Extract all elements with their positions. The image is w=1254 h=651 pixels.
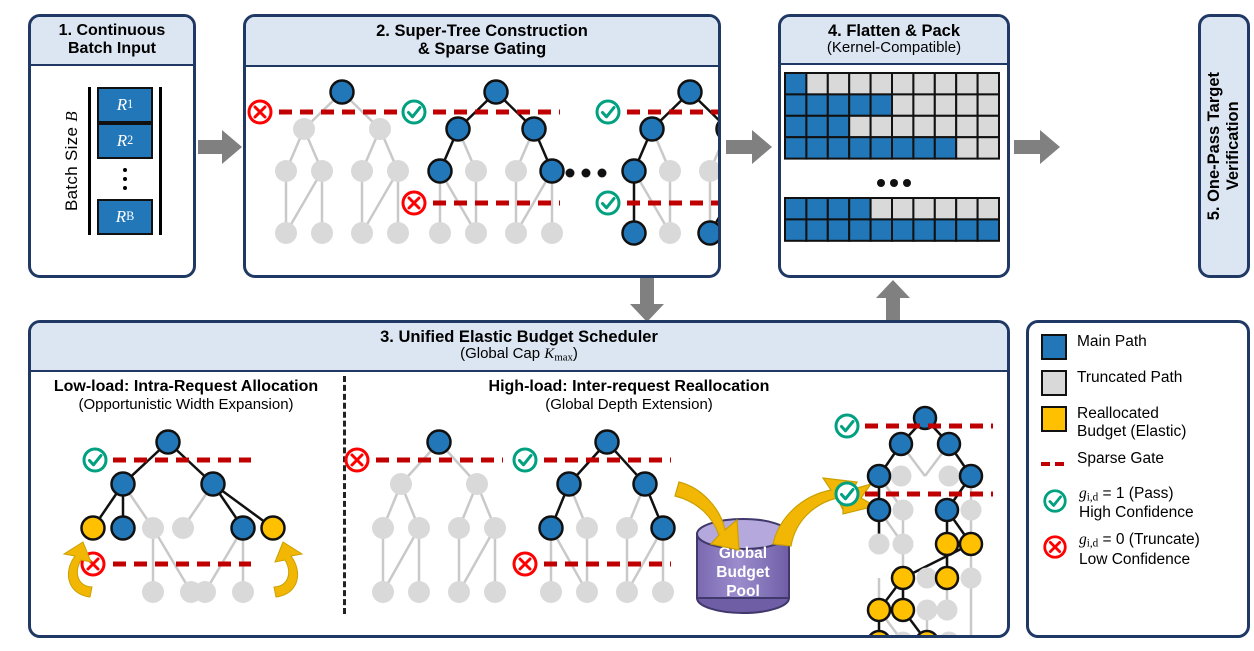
panel-3-header: 3. Unified Elastic Budget Scheduler (Glo… xyxy=(31,323,1007,372)
panel-4-subtitle: (Kernel-Compatible) xyxy=(785,40,1003,57)
pack-cell-main xyxy=(828,95,849,116)
blue-square-swatch xyxy=(1041,334,1067,360)
legend-panel: Main Path Truncated Path Reallocated Bud… xyxy=(1026,320,1250,638)
reallocated-node xyxy=(936,567,958,589)
legend-item: Reallocated Budget (Elastic) xyxy=(1041,405,1239,441)
panel-2-header: 2. Super-Tree Construction & Sparse Gati… xyxy=(246,17,718,67)
pack-cell-truncated xyxy=(892,73,913,94)
lowload-tree xyxy=(64,430,302,603)
arrow-scheduler-to-pack xyxy=(876,280,910,322)
batch-size-label: Batch Size B xyxy=(62,111,82,211)
pack-cell-main xyxy=(785,137,806,158)
green-check-circle-icon xyxy=(836,415,858,437)
panel-supertree-construction: 2. Super-Tree Construction & Sparse Gati… xyxy=(243,14,721,278)
pack-cell-main xyxy=(956,220,977,241)
pool-label-line2: Budget xyxy=(716,564,769,581)
pack-cell-truncated xyxy=(935,73,956,94)
pack-cell-truncated xyxy=(871,73,892,94)
pack-cell-truncated xyxy=(956,95,977,116)
pack-cell-main xyxy=(785,220,806,241)
reallocated-node xyxy=(936,533,958,555)
batch-bracket: R1 R2 RB xyxy=(88,87,162,235)
pack-cell-main xyxy=(785,116,806,137)
legend-label: Reallocated Budget (Elastic) xyxy=(1077,405,1186,441)
panel-flatten-and-pack: 4. Flatten & Pack (Kernel-Compatible) xyxy=(778,14,1010,278)
pack-cell-main xyxy=(935,220,956,241)
pack-cell-main xyxy=(785,198,806,219)
highload-tree-1 xyxy=(346,430,506,603)
supertree-2 xyxy=(403,80,564,244)
pack-cell-truncated xyxy=(978,95,999,116)
vertical-ellipsis-icon xyxy=(97,159,153,199)
pack-cell-main xyxy=(849,220,870,241)
legend-item: Truncated Path xyxy=(1041,369,1239,396)
legend-item: gi,d = 0 (Truncate)Low Confidence xyxy=(1041,531,1239,568)
panel-5-title: 5. One-Pass Target Verification xyxy=(1205,72,1243,220)
diagram-canvas: 1. Continuous Batch Input Batch Size B R… xyxy=(0,0,1254,651)
green-check-circle-icon xyxy=(597,192,619,214)
red-x-circle-icon xyxy=(249,101,271,123)
pack-cell-main xyxy=(892,220,913,241)
pack-cell-main xyxy=(785,73,806,94)
pack-cell-main xyxy=(806,220,827,241)
panel-1-header: 1. Continuous Batch Input xyxy=(31,17,193,66)
scheduler-diagram: Global Budget Pool xyxy=(31,372,1007,618)
pack-cell-truncated xyxy=(956,73,977,94)
pack-grid-group-b xyxy=(785,198,999,241)
pack-cell-truncated xyxy=(871,198,892,219)
pack-cell-main xyxy=(828,220,849,241)
pack-cell-main xyxy=(828,137,849,158)
pack-cell-main xyxy=(849,95,870,116)
pack-cell-main xyxy=(892,137,913,158)
elastic-arrow-right xyxy=(274,542,302,597)
supertree-diagram xyxy=(246,67,718,263)
pack-cell-main xyxy=(828,116,849,137)
pack-cell-truncated xyxy=(849,116,870,137)
pack-cell-main xyxy=(978,220,999,241)
supertree-3 xyxy=(597,80,721,244)
pack-cell-truncated xyxy=(935,95,956,116)
pack-cell-truncated xyxy=(892,198,913,219)
yellow-square-swatch xyxy=(1041,406,1067,432)
pack-cell-truncated xyxy=(935,198,956,219)
pack-cell-main xyxy=(806,95,827,116)
panel-2-body xyxy=(246,67,718,263)
pack-cell-main xyxy=(806,116,827,137)
arrow-supertree-to-scheduler xyxy=(630,278,664,322)
reallocated-node xyxy=(892,599,914,621)
pack-cell-truncated xyxy=(913,116,934,137)
highload-tree-2 xyxy=(514,430,675,603)
panel-one-pass-verification: 5. One-Pass Target Verification xyxy=(1198,14,1250,278)
legend-label: Main Path xyxy=(1077,333,1147,351)
green-check-circle-icon xyxy=(514,449,536,471)
green-check-circle-icon xyxy=(836,483,858,505)
panel-continuous-batch-input: 1. Continuous Batch Input Batch Size B R… xyxy=(28,14,196,278)
pack-cell-main xyxy=(871,95,892,116)
pack-cell-truncated xyxy=(978,198,999,219)
red-x-circle-icon xyxy=(403,192,425,214)
pack-grid xyxy=(781,65,1007,248)
panel-3-subtitle: (Global Cap Kmax) xyxy=(35,346,1003,363)
pack-cell-truncated xyxy=(913,95,934,116)
pack-cell-truncated xyxy=(956,116,977,137)
panel-4-header: 4. Flatten & Pack (Kernel-Compatible) xyxy=(781,17,1007,65)
panel-3-title: 3. Unified Elastic Budget Scheduler xyxy=(35,328,1003,346)
pack-cell-truncated xyxy=(956,137,977,158)
pack-cell-truncated xyxy=(828,73,849,94)
red-dashed-line xyxy=(1041,450,1067,476)
pack-cell-truncated xyxy=(913,73,934,94)
red-x-circle-icon xyxy=(514,553,536,575)
pack-cell-main xyxy=(871,220,892,241)
legend-label: Truncated Path xyxy=(1077,369,1182,387)
red-x-circle-icon xyxy=(1041,533,1069,561)
pack-cell-main xyxy=(806,198,827,219)
ellipsis-icon xyxy=(877,179,911,187)
global-budget-pool: Global Budget Pool xyxy=(697,519,789,613)
reallocated-node xyxy=(262,516,285,539)
request-item: R1 xyxy=(97,87,153,123)
panel-elastic-budget-scheduler: 3. Unified Elastic Budget Scheduler (Glo… xyxy=(28,320,1010,638)
pack-cell-truncated xyxy=(978,116,999,137)
panel-4-body xyxy=(781,65,1007,248)
red-x-circle-icon xyxy=(346,449,368,471)
pack-cell-truncated xyxy=(978,73,999,94)
pack-cell-truncated xyxy=(913,198,934,219)
pack-cell-truncated xyxy=(892,116,913,137)
pack-cell-truncated xyxy=(849,73,870,94)
pack-cell-main xyxy=(913,137,934,158)
green-check-circle-icon xyxy=(84,449,106,471)
green-check-circle-icon xyxy=(597,101,619,123)
pack-cell-truncated xyxy=(892,95,913,116)
legend-label: gi,d = 1 (Pass)High Confidence xyxy=(1079,485,1194,522)
pack-cell-truncated xyxy=(806,73,827,94)
pack-cell-truncated xyxy=(978,137,999,158)
ellipsis-icon xyxy=(566,168,607,177)
pack-grid-group-a xyxy=(785,73,999,159)
pack-cell-main xyxy=(785,95,806,116)
legend-label: Sparse Gate xyxy=(1077,450,1164,468)
legend-item: Main Path xyxy=(1041,333,1239,360)
legend-item: Sparse Gate xyxy=(1041,450,1239,476)
deep-extended-tree xyxy=(836,407,993,638)
arrow-batch-to-supertree xyxy=(198,130,242,164)
gray-square-swatch xyxy=(1041,370,1067,396)
arrow-pack-to-verification xyxy=(1014,130,1060,164)
reallocated-node xyxy=(892,567,914,589)
pack-cell-main xyxy=(849,198,870,219)
reallocated-node xyxy=(960,533,982,555)
supertree-1 xyxy=(249,80,409,244)
pack-cell-main xyxy=(806,137,827,158)
reallocated-node xyxy=(82,516,105,539)
panel-1-title: 1. Continuous Batch Input xyxy=(35,22,189,58)
legend-item: gi,d = 1 (Pass)High Confidence xyxy=(1041,485,1239,522)
arrow-supertree-to-pack xyxy=(726,130,772,164)
reallocated-node xyxy=(868,631,890,638)
panel-4-title: 4. Flatten & Pack xyxy=(785,22,1003,40)
request-item: RB xyxy=(97,199,153,235)
pool-label-line3: Pool xyxy=(726,583,760,600)
request-item: R2 xyxy=(97,123,153,159)
pack-cell-truncated xyxy=(956,198,977,219)
pack-cell-main xyxy=(849,137,870,158)
panel-2-title: 2. Super-Tree Construction & Sparse Gati… xyxy=(250,22,714,59)
pack-cell-truncated xyxy=(935,116,956,137)
pack-cell-main xyxy=(871,137,892,158)
pack-cell-main xyxy=(828,198,849,219)
legend-label: gi,d = 0 (Truncate)Low Confidence xyxy=(1079,531,1200,568)
pack-cell-truncated xyxy=(871,116,892,137)
green-check-circle-icon xyxy=(403,101,425,123)
pack-cell-main xyxy=(935,137,956,158)
panel-3-body: Low-load: Intra-Request Allocation (Oppo… xyxy=(31,372,1007,618)
green-check-circle-icon xyxy=(1041,487,1069,515)
reallocated-node xyxy=(868,599,890,621)
pack-cell-main xyxy=(913,220,934,241)
